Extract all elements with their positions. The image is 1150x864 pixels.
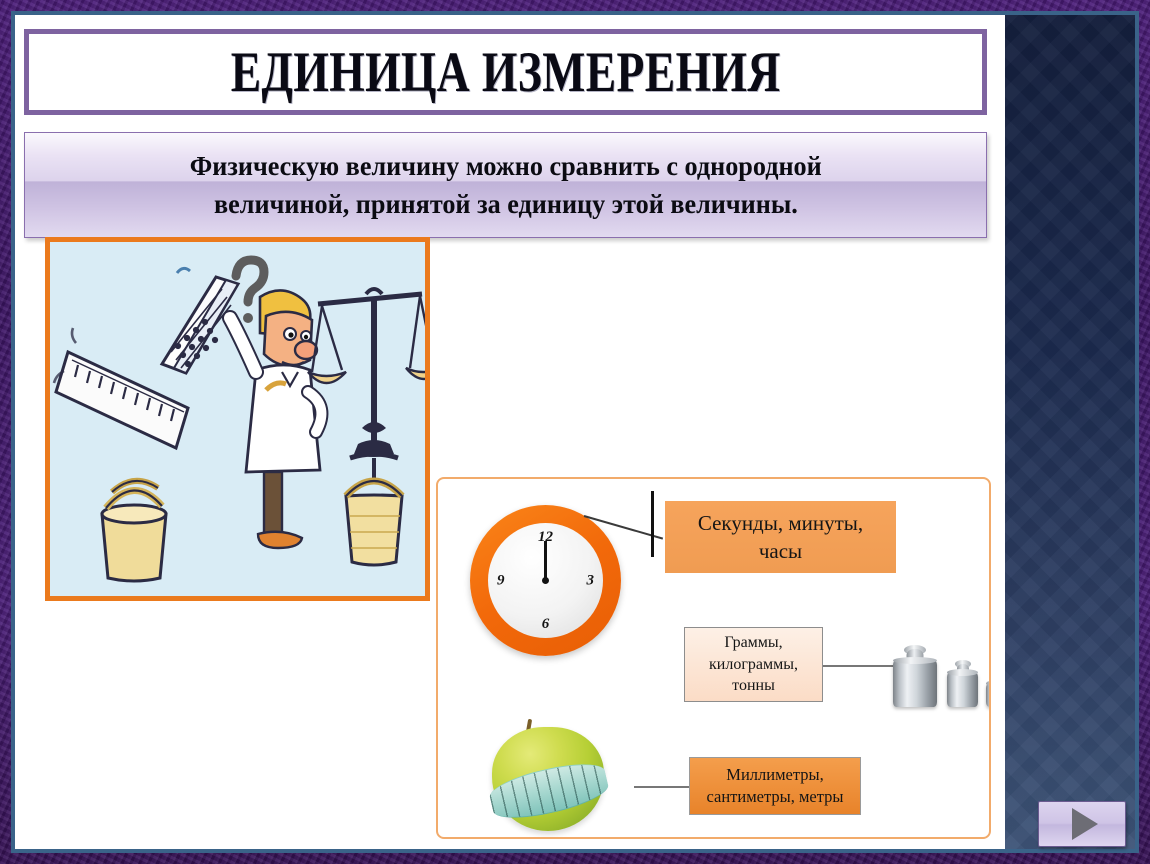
- weight-small: [986, 675, 991, 707]
- clock-face: 12 3 6 9: [488, 523, 603, 638]
- slide-body: ЕДИНИЦА ИЗМЕРЕНИЯ Физическую величину мо…: [15, 15, 1135, 849]
- label-length-line-1: Миллиметры,: [726, 764, 823, 786]
- clock-number-9: 9: [497, 572, 505, 589]
- slide-side-decoration-panel: [1005, 15, 1135, 849]
- clock-number-6: 6: [542, 616, 550, 633]
- presentation-slide: ЕДИНИЦА ИЗМЕРЕНИЯ Физическую величину мо…: [0, 0, 1150, 864]
- next-slide-button[interactable]: [1038, 801, 1126, 847]
- clock-number-3: 3: [587, 572, 595, 589]
- label-length-line-2: сантиметры, метры: [707, 786, 844, 808]
- subtitle-line-1: Физическую величину можно сравнить с одн…: [190, 147, 822, 185]
- slide-subtitle-box: Физическую величину можно сравнить с одн…: [24, 132, 987, 238]
- units-diagram-card: 12 3 6 9 Секунды, минуты, часы: [436, 477, 991, 839]
- page-title: ЕДИНИЦА ИЗМЕРЕНИЯ: [231, 44, 781, 101]
- play-triangle-icon: [1072, 808, 1098, 840]
- weight-medium: [947, 663, 978, 707]
- apple-with-tape-illustration: [470, 719, 630, 837]
- cartoon-illustration-card: [45, 237, 430, 601]
- subtitle-line-2: величиной, принятой за единицу этой вели…: [214, 185, 798, 223]
- connector-bracket-time: [651, 491, 654, 557]
- label-mass-line-2: килограммы,: [709, 654, 798, 676]
- label-time-line-2: часы: [759, 537, 802, 565]
- label-length-units: Миллиметры, сантиметры, метры: [689, 757, 861, 815]
- cartoon-illustration: [50, 242, 425, 596]
- clock-center-pin: [542, 577, 549, 584]
- connector-line-length: [634, 786, 690, 788]
- slide-title-box: ЕДИНИЦА ИЗМЕРЕНИЯ: [24, 29, 987, 115]
- label-mass-units: Граммы, килограммы, тонны: [684, 627, 823, 702]
- label-mass-line-3: тонны: [732, 675, 775, 697]
- clock-illustration: 12 3 6 9: [470, 505, 621, 656]
- label-time-line-1: Секунды, минуты,: [698, 509, 863, 537]
- label-mass-line-1: Граммы,: [724, 632, 782, 654]
- label-time-units: Секунды, минуты, часы: [665, 501, 896, 573]
- weight-large: [893, 649, 937, 707]
- connector-line-mass: [823, 665, 901, 667]
- calibration-weights-illustration: [893, 612, 991, 707]
